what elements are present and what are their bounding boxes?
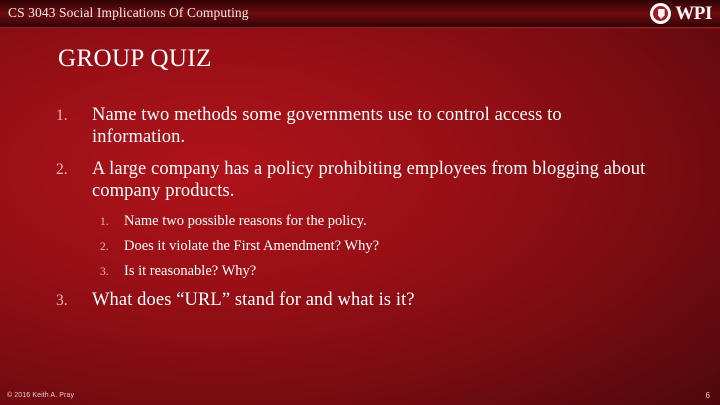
quiz-question-list: 1. Name two methods some governments use…: [56, 104, 656, 322]
wpi-logo-text: WPI: [675, 4, 712, 23]
list-item-number: 3.: [100, 262, 124, 281]
list-item-text: Is it reasonable? Why?: [124, 262, 256, 280]
list-item: 1. Name two methods some governments use…: [56, 104, 656, 148]
list-item-text: A large company has a policy prohibiting…: [92, 158, 656, 202]
list-item-number: 3.: [56, 289, 92, 312]
sub-question-list: 1. Name two possible reasons for the pol…: [100, 212, 656, 281]
list-item-number: 1.: [100, 212, 124, 231]
list-item-number: 2.: [56, 158, 92, 181]
slide-header-band: CS 3043 Social Implications Of Computing…: [0, 0, 720, 29]
slide-canvas: CS 3043 Social Implications Of Computing…: [0, 0, 720, 405]
list-item-text: What does “URL” stand for and what is it…: [92, 289, 415, 311]
list-item: 3. Is it reasonable? Why?: [100, 262, 656, 281]
list-item-text: Name two possible reasons for the policy…: [124, 212, 367, 230]
wpi-logo: WPI: [650, 3, 712, 24]
list-item-number: 1.: [56, 104, 92, 127]
list-item: 2. Does it violate the First Amendment? …: [100, 237, 656, 256]
course-title: CS 3043 Social Implications Of Computing: [8, 5, 249, 21]
list-item-text: Does it violate the First Amendment? Why…: [124, 237, 379, 255]
wpi-seal-icon: [650, 3, 671, 24]
list-item: 1. Name two possible reasons for the pol…: [100, 212, 656, 231]
page-title: GROUP QUIZ: [58, 45, 212, 73]
list-item: 3. What does “URL” stand for and what is…: [56, 289, 656, 312]
page-number: 6: [706, 391, 710, 400]
list-item: 2. A large company has a policy prohibit…: [56, 158, 656, 202]
list-item-number: 2.: [100, 237, 124, 256]
list-item-text: Name two methods some governments use to…: [92, 104, 656, 148]
copyright-notice: © 2016 Keith A. Pray: [7, 392, 74, 399]
